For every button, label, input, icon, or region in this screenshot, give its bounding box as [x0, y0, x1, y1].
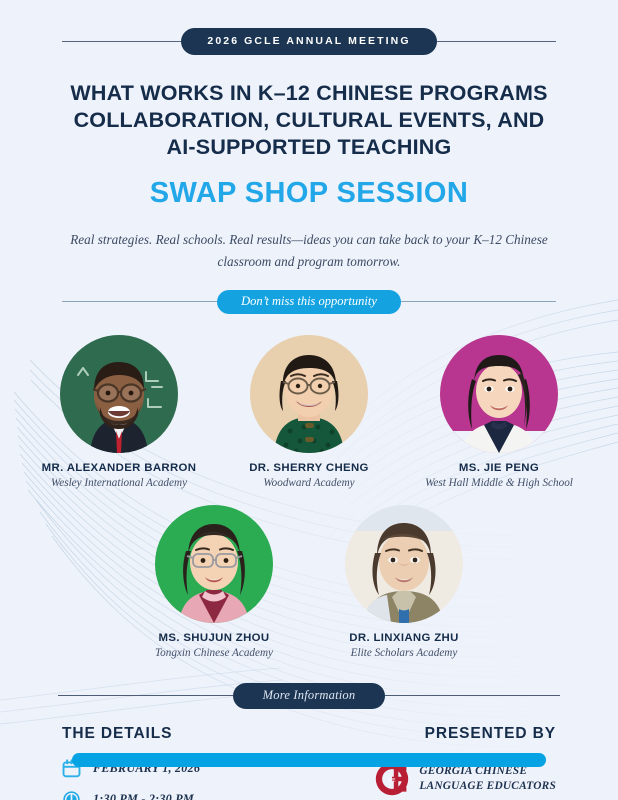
tagline-text: Real strategies. Real schools. Real resu… [69, 229, 549, 272]
portrait-alexander-barron-icon [60, 335, 178, 453]
avatar [155, 505, 273, 623]
brand-line-2: LANGUAGE EDUCATORS [419, 779, 556, 794]
opportunity-divider: Don’t miss this opportunity [0, 290, 618, 314]
speaker-card: MR. ALEXANDER BARRON Wesley Internationa… [34, 335, 204, 489]
page-title: WHAT WORKS IN K–12 CHINESE PROGRAMS COLL… [0, 80, 618, 161]
avatar [60, 335, 178, 453]
presented-by-title: PRESENTED BY [374, 725, 556, 743]
speaker-affiliation: Elite Scholars Academy [319, 647, 489, 659]
speaker-name: DR. LINXIANG ZHU [319, 632, 489, 644]
clock-icon [62, 790, 81, 800]
more-information-badge: More Information [233, 683, 386, 709]
speaker-card: MS. SHUJUN ZHOU Tongxin Chinese Academy [129, 505, 299, 659]
poster-canvas: 2026 GCLE ANNUAL MEETING WHAT WORKS IN K… [0, 0, 618, 800]
brand-name: GEORGIA CHINESE LANGUAGE EDUCATORS [419, 764, 556, 794]
avatar [250, 335, 368, 453]
speaker-card: DR. SHERRY CHENG Woodward Academy [224, 335, 394, 489]
speaker-row-1: MR. ALEXANDER BARRON Wesley Internationa… [0, 335, 618, 489]
avatar [345, 505, 463, 623]
speaker-row-2: MS. SHUJUN ZHOU Tongxin Chinese Academy [0, 505, 618, 659]
opportunity-rule-right [401, 301, 556, 302]
svg-text:LE: LE [389, 778, 397, 784]
speaker-affiliation: Tongxin Chinese Academy [129, 647, 299, 659]
more-info-rule-right [385, 695, 560, 696]
avatar [440, 335, 558, 453]
speaker-grid: MR. ALEXANDER BARRON Wesley Internationa… [0, 335, 618, 659]
annual-meeting-badge: 2026 GCLE ANNUAL MEETING [181, 28, 436, 55]
more-information-divider: More Information [0, 683, 618, 709]
ribbon-rule-right [437, 41, 556, 42]
headline-line-2: COLLABORATION, CULTURAL EVENTS, AND [34, 107, 584, 134]
portrait-shujun-zhou-icon [155, 505, 273, 623]
speaker-affiliation: Wesley International Academy [34, 477, 204, 489]
headline-line-1: WHAT WORKS IN K–12 CHINESE PROGRAMS [34, 80, 584, 107]
speaker-name: MR. ALEXANDER BARRON [34, 462, 204, 474]
speaker-affiliation: West Hall Middle & High School [414, 477, 584, 489]
session-subtitle: SWAP SHOP SESSION [0, 177, 618, 210]
speaker-name: MS. JIE PENG [414, 462, 584, 474]
top-ribbon: 2026 GCLE ANNUAL MEETING [0, 28, 618, 55]
speaker-name: DR. SHERRY CHENG [224, 462, 394, 474]
speaker-card: DR. LINXIANG ZHU Elite Scholars Academy [319, 505, 489, 659]
portrait-sherry-cheng-icon [250, 335, 368, 453]
headline-line-3: AI-SUPPORTED TEACHING [34, 134, 584, 161]
speaker-card: MS. JIE PENG West Hall Middle & High Sch… [414, 335, 584, 489]
detail-time-text: 1:30 PM - 2:30 PM [93, 792, 194, 800]
portrait-jie-peng-icon [440, 335, 558, 453]
details-title: THE DETAILS [62, 725, 200, 743]
detail-time: 1:30 PM - 2:30 PM [62, 790, 200, 800]
speaker-name: MS. SHUJUN ZHOU [129, 632, 299, 644]
portrait-linxiang-zhu-icon [345, 505, 463, 623]
bottom-accent-bar [72, 753, 546, 767]
more-info-rule-left [58, 695, 233, 696]
ribbon-rule-left [62, 41, 181, 42]
speaker-affiliation: Woodward Academy [224, 477, 394, 489]
opportunity-badge: Don’t miss this opportunity [217, 290, 401, 314]
opportunity-rule-left [62, 301, 217, 302]
